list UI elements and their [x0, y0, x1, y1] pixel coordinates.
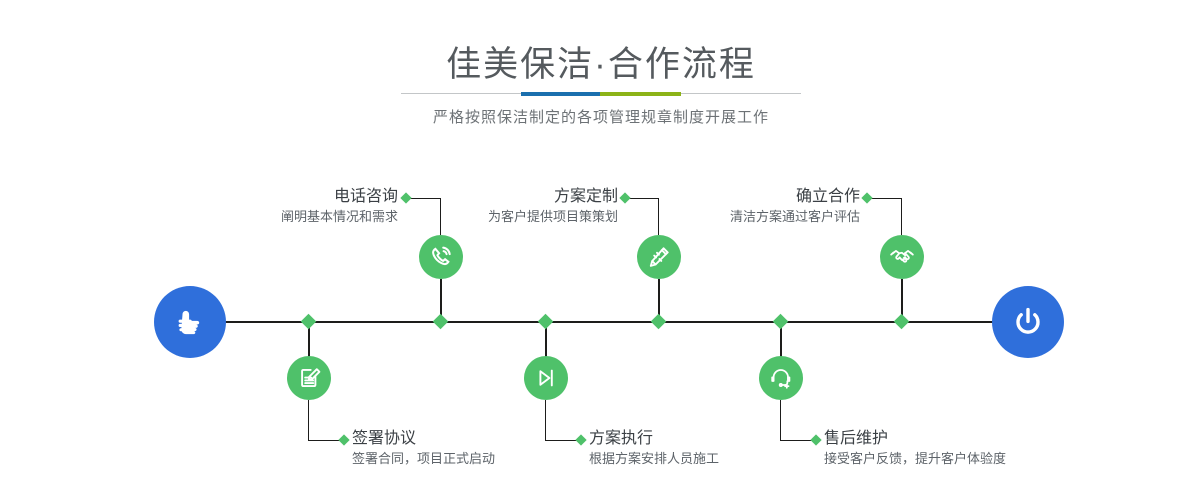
- step-2-axis-marker: [301, 314, 317, 330]
- step-6-title: 售后维护: [824, 429, 1124, 449]
- flow-end-node[interactable]: [992, 286, 1064, 358]
- step-1-axis-marker: [433, 314, 449, 330]
- step-5-desc: 清洁方案通过客户评估: [612, 207, 860, 226]
- step-3-desc: 为客户提供项目策策划: [370, 207, 618, 226]
- pointing-hand-icon: [170, 302, 210, 342]
- divider-blue-segment: [521, 92, 600, 96]
- step-3-node[interactable]: [637, 235, 681, 279]
- step-1-node[interactable]: [419, 235, 463, 279]
- headset-support-icon: [768, 365, 794, 391]
- step-2-node[interactable]: [287, 356, 331, 400]
- page-subtitle: 严格按照保洁制定的各项管理规章制度开展工作: [0, 106, 1202, 127]
- step-6-callout: 售后维护 接受客户反馈，提升客户体验度: [824, 429, 1124, 468]
- step-5-callout: 确立合作 清洁方案通过客户评估: [612, 187, 860, 226]
- step-5-node[interactable]: [880, 235, 924, 279]
- step-6-desc: 接受客户反馈，提升客户体验度: [824, 449, 1124, 468]
- power-icon: [1008, 302, 1048, 342]
- flow-start-node[interactable]: [154, 286, 226, 358]
- step-1-title: 电话咨询: [150, 187, 398, 207]
- handshake-icon: [889, 244, 915, 270]
- page-title: 佳美保洁·合作流程: [0, 36, 1202, 87]
- step-5-title: 确立合作: [612, 187, 860, 207]
- play-skip-icon: [533, 365, 559, 391]
- step-6-node[interactable]: [759, 356, 803, 400]
- step-3-axis-marker: [651, 314, 667, 330]
- step-2-connector-tip: [338, 434, 349, 445]
- title-divider: [401, 92, 801, 96]
- pencil-ruler-icon: [646, 244, 672, 270]
- step-5-axis-marker: [894, 314, 910, 330]
- phone-call-icon: [428, 244, 454, 270]
- step-4-node[interactable]: [524, 356, 568, 400]
- document-edit-icon: [296, 365, 322, 391]
- step-5-connector-tip: [861, 192, 872, 203]
- cooperation-flow-infographic: 佳美保洁·合作流程 严格按照保洁制定的各项管理规章制度开展工作: [0, 0, 1202, 502]
- step-6-axis-marker: [773, 314, 789, 330]
- step-1-desc: 阐明基本情况和需求: [150, 207, 398, 226]
- step-1-callout: 电话咨询 阐明基本情况和需求: [150, 187, 398, 226]
- divider-olive-segment: [600, 92, 681, 96]
- step-4-axis-marker: [538, 314, 554, 330]
